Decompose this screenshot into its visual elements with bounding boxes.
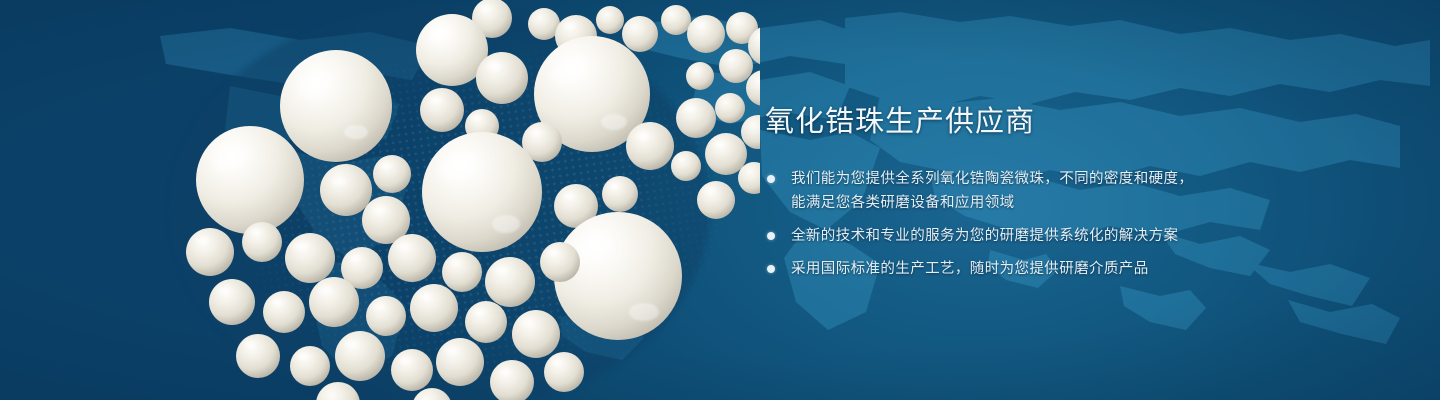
banner-text-panel: 氧化锆珠生产供应商 我们能为您提供全系列氧化锆陶瓷微珠，不同的密度和硬度， 能满…: [765, 103, 1365, 281]
bullet-text-line-1: 采用国际标准的生产工艺，随时为您提供研磨介质产品: [791, 261, 1149, 277]
bullet-dot-icon: [767, 265, 775, 273]
bullet-text-line-2: 能满足您各类研磨设备和应用领域: [791, 191, 1365, 215]
banner-headline: 氧化锆珠生产供应商: [765, 103, 1365, 141]
bullet-dot-icon: [767, 175, 775, 183]
zirconia-beads-photo: [140, 0, 760, 400]
bullet-text-line-1: 我们能为您提供全系列氧化锆陶瓷微珠，不同的密度和硬度，: [791, 171, 1193, 187]
list-item: 全新的技术和专业的服务为您的研磨提供系统化的解决方案: [765, 224, 1365, 248]
banner-feature-list: 我们能为您提供全系列氧化锆陶瓷微珠，不同的密度和硬度， 能满足您各类研磨设备和应…: [765, 167, 1365, 281]
bullet-text-line-1: 全新的技术和专业的服务为您的研磨提供系统化的解决方案: [791, 228, 1178, 244]
hero-banner: 氧化锆珠生产供应商 我们能为您提供全系列氧化锆陶瓷微珠，不同的密度和硬度， 能满…: [0, 0, 1440, 400]
list-item: 我们能为您提供全系列氧化锆陶瓷微珠，不同的密度和硬度， 能满足您各类研磨设备和应…: [765, 167, 1365, 215]
bullet-dot-icon: [767, 232, 775, 240]
list-item: 采用国际标准的生产工艺，随时为您提供研磨介质产品: [765, 257, 1365, 281]
